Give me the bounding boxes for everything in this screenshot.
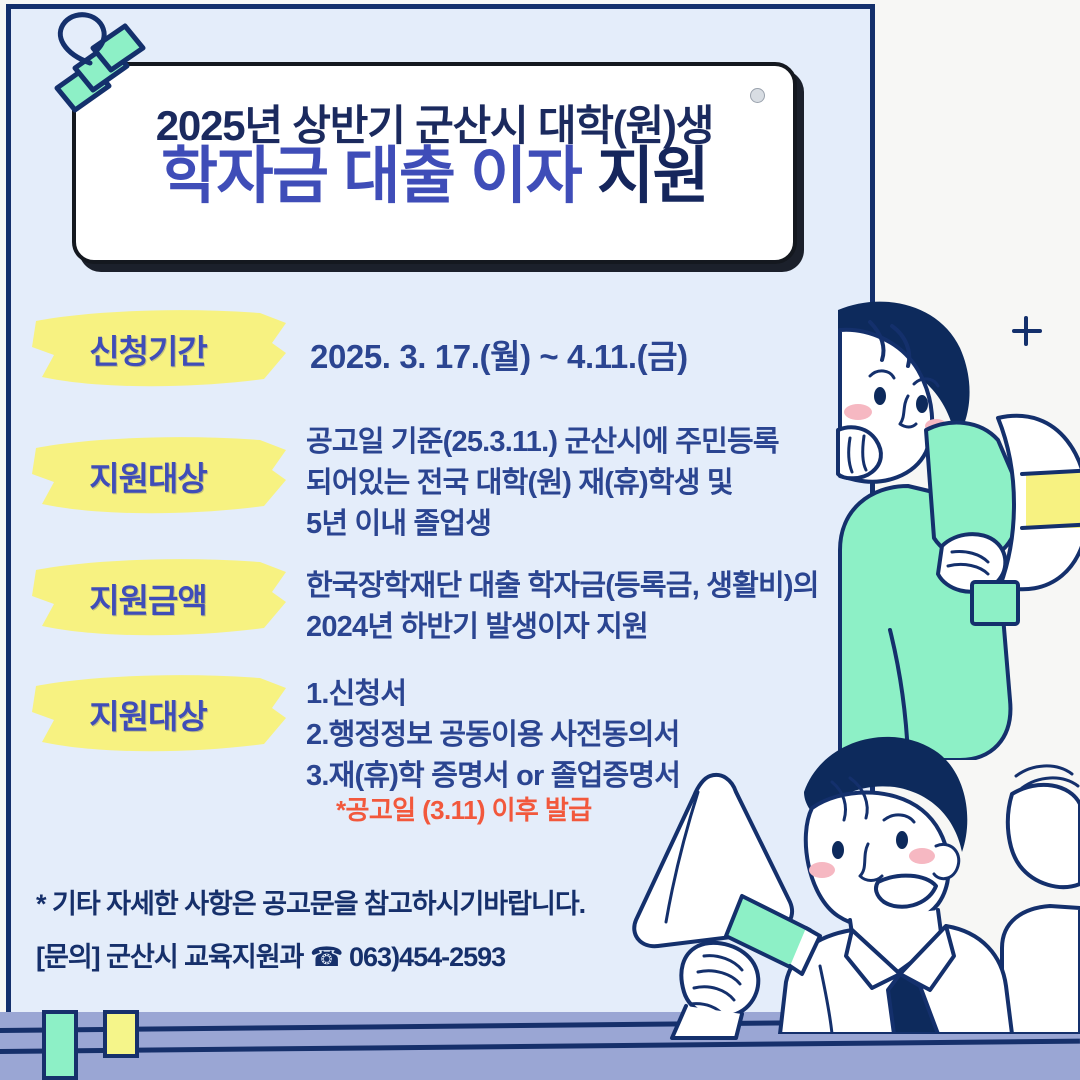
tag-documents: 지원대상	[28, 668, 296, 760]
desk-block-mint	[42, 1010, 78, 1080]
tag-label: 지원대상	[28, 452, 296, 500]
desk-block-yellow	[103, 1010, 139, 1058]
tag-label: 신청기간	[28, 325, 296, 373]
tag-eligibility: 지원대상	[28, 430, 296, 522]
illustration-person-with-megaphone-top	[830, 300, 1080, 760]
poster-canvas: 2025년 상반기 군산시 대학(원)생 학자금 대출 이자 지원 신청기간 2…	[0, 0, 1080, 1080]
binder-clip-icon	[35, 6, 150, 116]
application-period-value: 2025. 3. 17.(월) ~ 4.11.(금)	[310, 330, 688, 378]
amount-value: 한국장학재단 대출 학자금(등록금, 생활비)의 2024년 하반기 발생이자 …	[306, 566, 866, 648]
tag-application-period: 신청기간	[28, 303, 296, 395]
poster-title-line2-highlight: 학자금 대출 이자	[161, 142, 597, 211]
tag-amount: 지원금액	[28, 552, 296, 644]
tag-label: 지원금액	[28, 574, 296, 622]
illustration-megaphone-bottom-left	[620, 770, 850, 1040]
title-card: 2025년 상반기 군산시 대학(원)생 학자금 대출 이자 지원	[72, 62, 797, 264]
documents-note: *공고일 (3.11) 이후 발급	[336, 790, 592, 827]
poster-title-line2-accent: 지원	[597, 142, 708, 211]
poster-title-line2: 학자금 대출 이자 지원	[76, 144, 793, 209]
tag-label: 지원대상	[28, 690, 296, 738]
eligibility-value: 공고일 기준(25.3.11.) 군산시에 주민등록 되어있는 전국 대학(원)…	[306, 422, 851, 546]
